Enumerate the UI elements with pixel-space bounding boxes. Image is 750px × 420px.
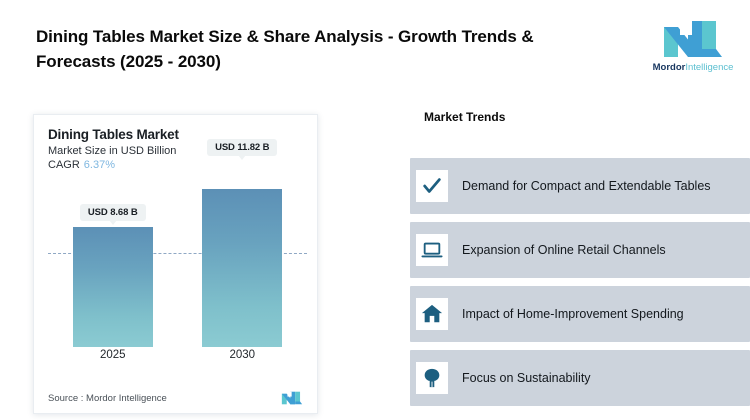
brand-logo: MordorIntelligence (644, 6, 742, 86)
list-item-label: Demand for Compact and Extendable Tables (462, 178, 721, 195)
bar-2025 (73, 227, 153, 347)
cagr-value: 6.37% (84, 159, 115, 171)
x-tick-label: 2025 (71, 349, 155, 361)
brand-sub: Intelligence (685, 62, 733, 73)
bar-group-2030: USD 11.82 B (200, 189, 284, 347)
x-tick-label: 2030 (200, 349, 284, 361)
infographic-page: Dining Tables Market Size & Share Analys… (0, 0, 750, 420)
list-item-label: Focus on Sustainability (462, 370, 601, 387)
bar-2030 (202, 189, 282, 347)
bar-group-2025: USD 8.68 B (71, 189, 155, 347)
list-item-label: Impact of Home-Improvement Spending (462, 306, 694, 323)
bar-value-label: USD 8.68 B (80, 204, 146, 221)
house-icon (416, 298, 448, 330)
chart-source-row: Source : Mordor Intelligence (48, 391, 305, 405)
page-title-line-1: Dining Tables Market Size & Share Analys… (36, 27, 534, 46)
source-text: Source : Mordor Intelligence (48, 393, 167, 404)
source-prefix: Source : (48, 393, 83, 404)
bar-value-label: USD 11.82 B (207, 139, 277, 156)
list-item[interactable]: Focus on Sustainability (410, 350, 750, 406)
bar-chart-plot: USD 8.68 B USD 11.82 B 2025 2030 (48, 189, 307, 373)
mordor-m-logo-icon (279, 391, 305, 405)
chart-cagr: CAGR6.37% (48, 159, 303, 171)
feature-list: Demand for Compact and Extendable Tables… (410, 158, 750, 406)
cagr-label: CAGR (48, 159, 80, 171)
brand-name: Mordor (653, 62, 686, 73)
source-name: Mordor Intelligence (86, 393, 167, 404)
x-axis-ticks: 2025 2030 (48, 349, 307, 373)
brand-logo-text: MordorIntelligence (653, 62, 734, 73)
list-item[interactable]: Impact of Home-Improvement Spending (410, 286, 750, 342)
list-item[interactable]: Demand for Compact and Extendable Tables (410, 158, 750, 214)
chart-card: Dining Tables Market Market Size in USD … (33, 114, 318, 414)
mordor-m-logo-icon (662, 19, 724, 59)
list-item-label: Expansion of Online Retail Channels (462, 242, 676, 259)
check-icon (416, 170, 448, 202)
laptop-icon (416, 234, 448, 266)
market-trends-panel: Market Trends Demand for Compact and Ext… (410, 100, 750, 420)
panel-heading: Market Trends (424, 110, 724, 124)
page-title: Dining Tables Market Size & Share Analys… (36, 24, 636, 74)
tree-icon (416, 362, 448, 394)
list-item[interactable]: Expansion of Online Retail Channels (410, 222, 750, 278)
bar-series: USD 8.68 B USD 11.82 B (48, 189, 307, 347)
page-title-line-2: Forecasts (2025 - 2030) (36, 49, 636, 74)
